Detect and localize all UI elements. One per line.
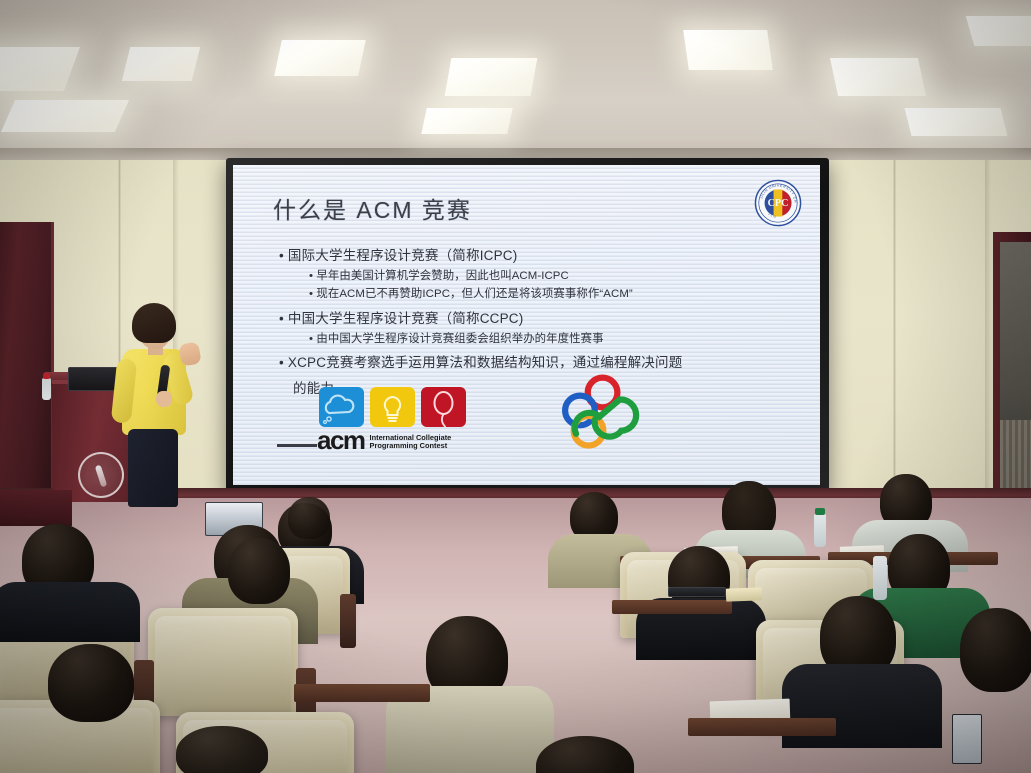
- stage-side-desk: [0, 490, 72, 526]
- ceiling-light-panel: [683, 30, 773, 70]
- ceiling-light-panel: [421, 108, 513, 134]
- audience-desk: [612, 600, 732, 614]
- audience-head: [48, 644, 134, 722]
- radiator: [1000, 420, 1031, 494]
- slide-bullet-l1: 中国大学生程序设计竞赛（简称CCPC): [273, 308, 790, 330]
- presenter-hand-holding-mic: [156, 391, 172, 407]
- projection-screen: CPC JILIN UNIVERSITY CHINA JLU 什么是 ACM 竞…: [226, 158, 829, 494]
- acm-wordmark-text: acm: [317, 430, 365, 451]
- slide-bullet-l2: 早年由美国计算机学会赞助，因此也叫ACM-ICPC: [273, 267, 790, 285]
- presenter-hair: [132, 303, 176, 343]
- audience-desk: [688, 718, 836, 736]
- seat-armrest: [340, 594, 356, 648]
- lecture-hall-photo: CPC JILIN UNIVERSITY CHINA JLU 什么是 ACM 竞…: [0, 0, 1031, 773]
- acm-subtitle-line2: Programming Contest: [370, 441, 448, 450]
- slide-logos: acm International Collegiate Programming…: [317, 373, 649, 451]
- balloon-icon: [421, 387, 466, 427]
- ceiling-light-panel: [445, 58, 538, 96]
- audience-head: [288, 497, 330, 539]
- acm-wordmark: acm International Collegiate Programming…: [317, 430, 497, 451]
- university-seal-icon: CPC JILIN UNIVERSITY CHINA JLU: [754, 179, 802, 227]
- presentation-slide: CPC JILIN UNIVERSITY CHINA JLU 什么是 ACM 竞…: [233, 165, 820, 485]
- audience-tablet: [668, 587, 726, 597]
- audience-head: [176, 726, 268, 773]
- icpc-rings-logo-icon: [553, 373, 649, 451]
- slide-bullet-l2: 由中国大学生程序设计竞赛组委会组织举办的年度性赛事: [273, 330, 790, 348]
- water-bottle: [873, 556, 887, 600]
- audience-shoulders: [0, 582, 140, 642]
- svg-text:CPC: CPC: [768, 198, 789, 209]
- door-left[interactable]: [0, 222, 54, 502]
- audience-head: [960, 608, 1031, 692]
- ceiling-light-panel: [1, 100, 129, 132]
- auditorium-seat: [148, 608, 298, 716]
- audience-desk: [294, 684, 430, 702]
- ceiling-light-panel: [905, 108, 1008, 136]
- cloud-icon: [319, 387, 364, 427]
- acm-tiles: [319, 387, 497, 427]
- ceiling-light-panel: [830, 58, 926, 96]
- slide-bullet-l1: XCPC竞赛考察选手运用算法和数据结构知识，通过编程解决问题: [273, 352, 790, 374]
- smartphone[interactable]: [952, 714, 982, 764]
- wall-panel-edge: [985, 160, 991, 540]
- presenter-trousers: [128, 429, 178, 507]
- bottle-cap: [815, 508, 825, 515]
- slide-bullet-l2: 现在ACM已不再赞助ICPC，但人们还是将该项赛事称作“ACM”: [273, 285, 790, 303]
- lightbulb-icon: [370, 387, 415, 427]
- acm-icpc-logo: acm International Collegiate Programming…: [317, 387, 497, 451]
- slide-title: 什么是 ACM 竞赛: [273, 191, 790, 225]
- ceiling-light-panel: [966, 16, 1031, 46]
- stage-water-bottle: [42, 378, 51, 400]
- acm-subtitle-line1: International Collegiate: [370, 433, 452, 442]
- ceiling-light-panel: [122, 47, 200, 81]
- slide-divider-dash: [277, 444, 317, 447]
- presenter: [106, 303, 202, 503]
- presenter-open-hand: [178, 341, 202, 366]
- ceiling-light-panel: [274, 40, 366, 76]
- notebook: [726, 587, 762, 601]
- water-bottle: [814, 513, 826, 547]
- acm-subtitle: International Collegiate Programming Con…: [370, 434, 452, 451]
- slide-bullet-l1: 国际大学生程序设计竞赛（简称ICPC): [273, 245, 790, 267]
